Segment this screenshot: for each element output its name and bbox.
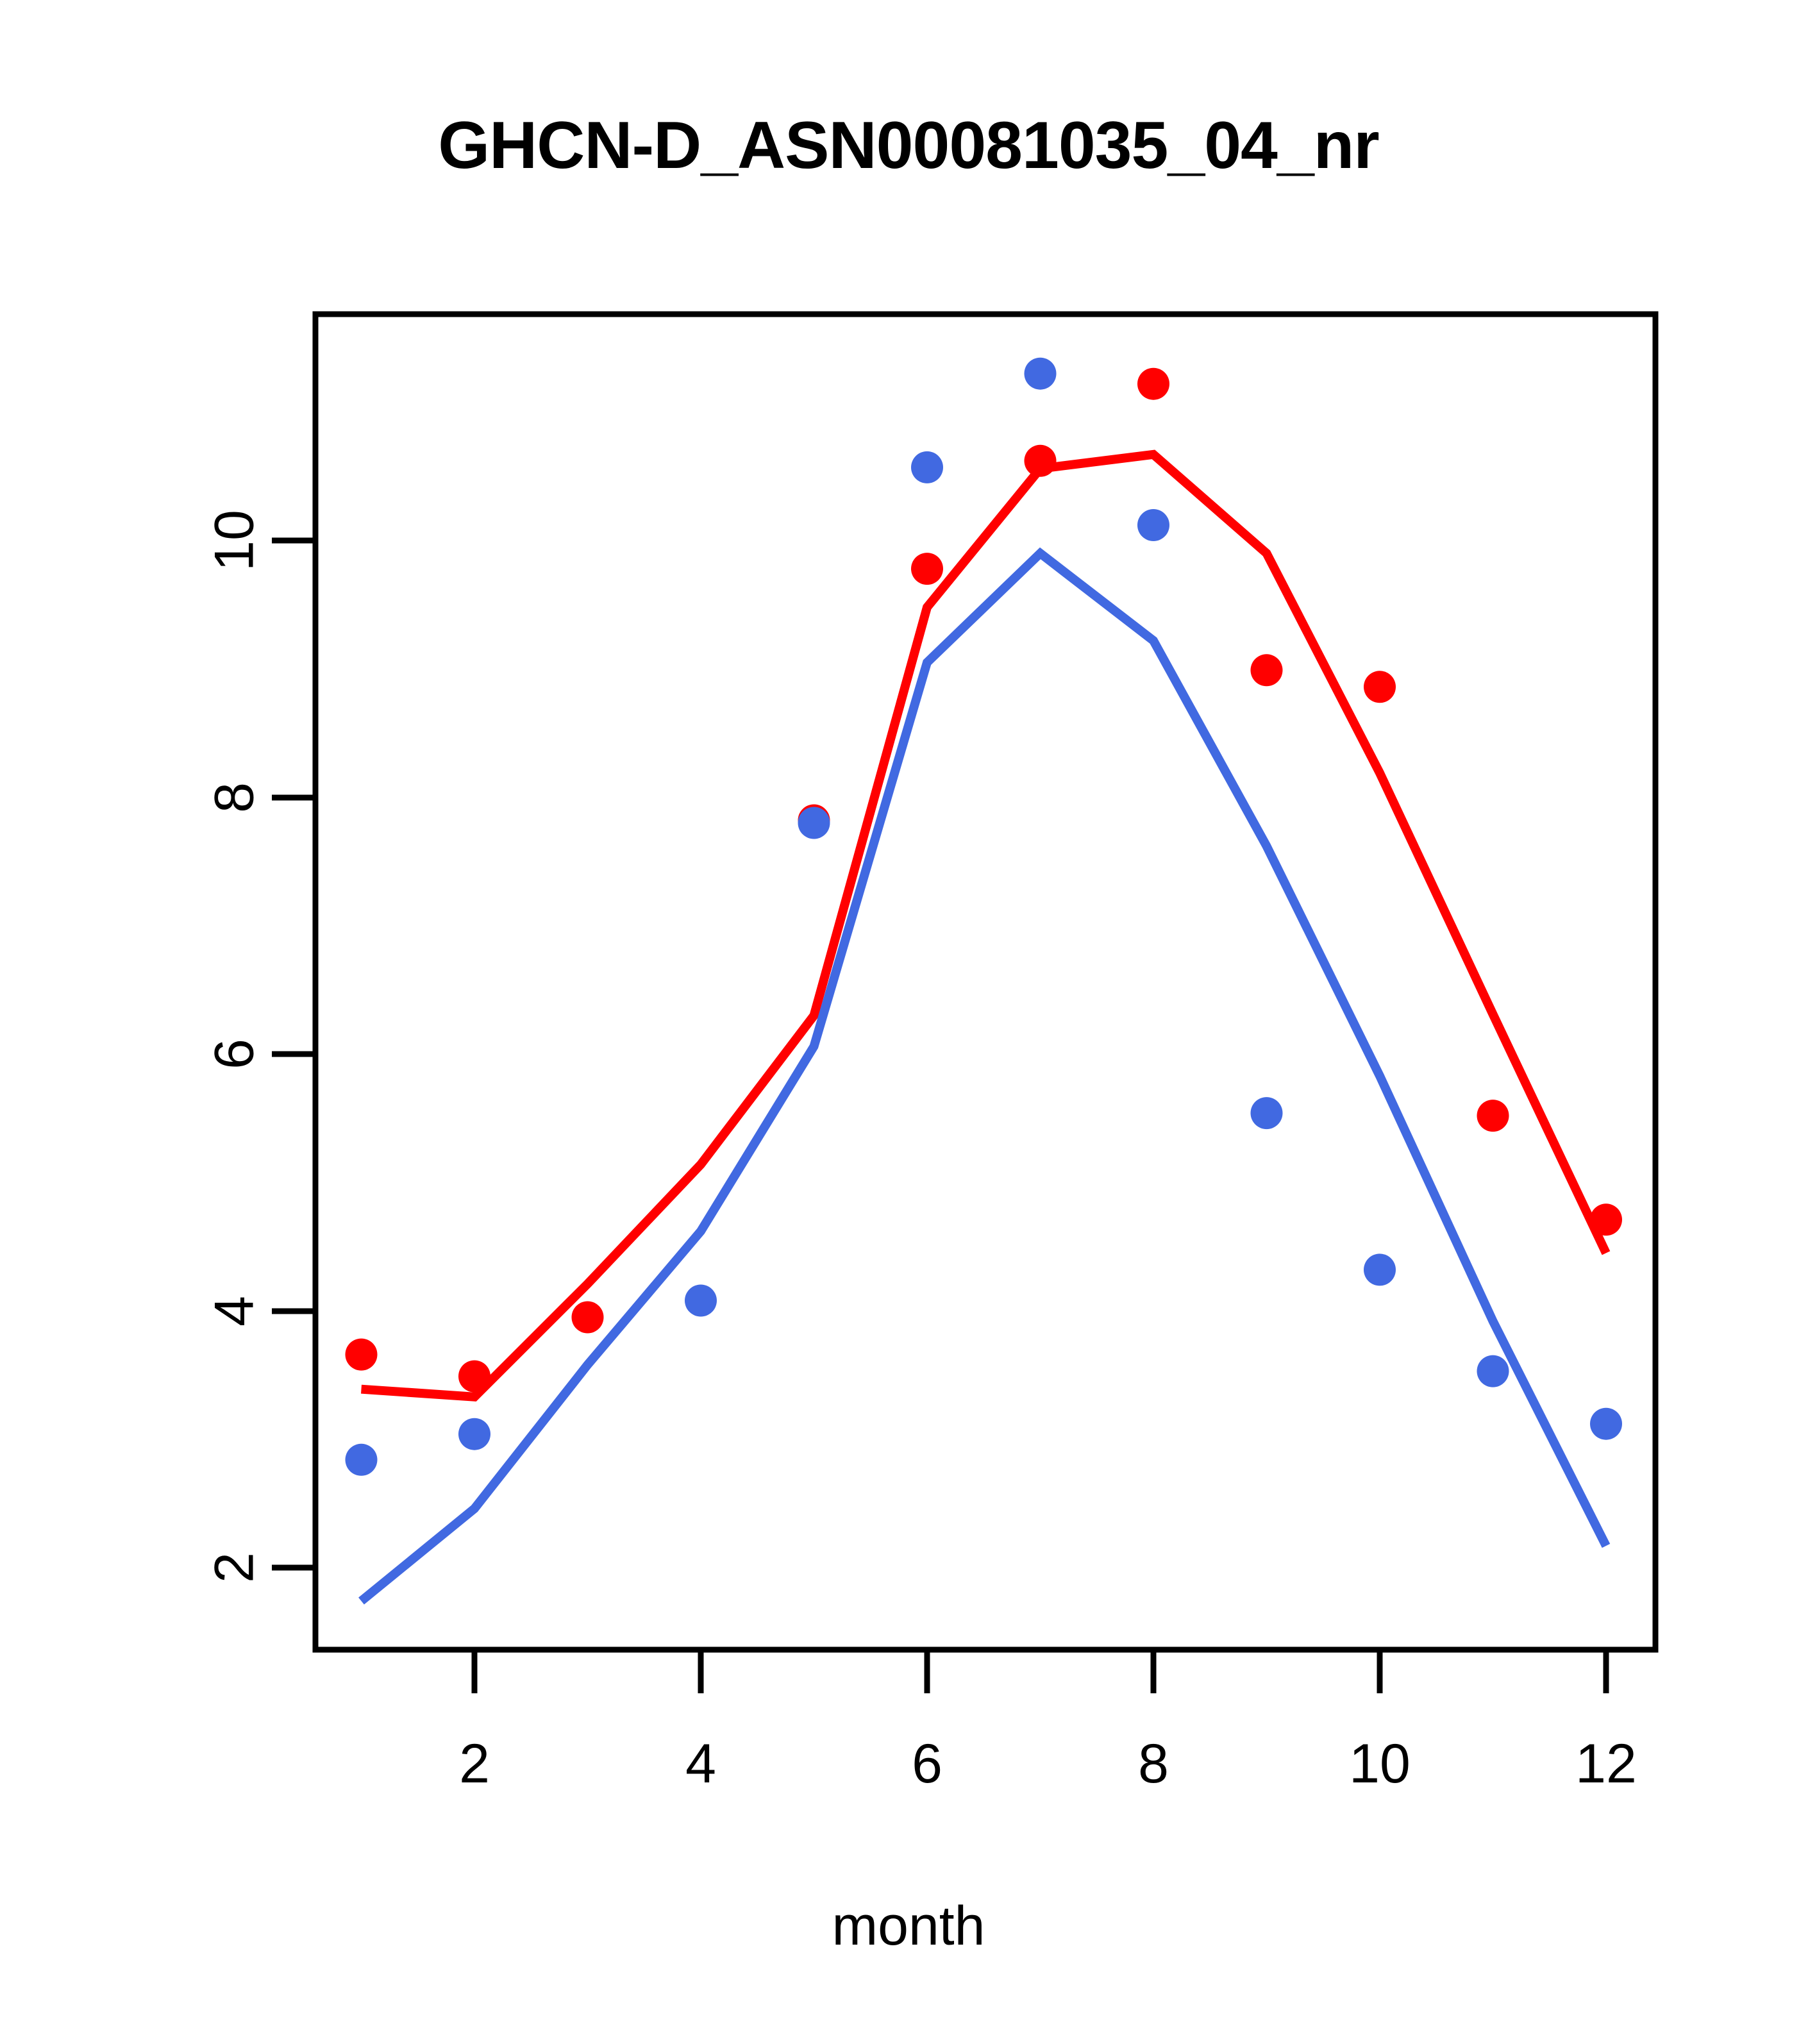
red-points-marker [1025,445,1057,477]
y-tick-label-2: 2 [204,1552,265,1583]
series-points-layer [346,358,1623,1476]
red-points-marker [911,553,943,585]
blue-points-marker [1364,1253,1396,1286]
x-tick-label-4: 4 [685,1733,716,1795]
blue-points-marker [798,807,830,839]
chart-canvas: 10 8 6 4 2 2 4 6 8 10 12 [0,0,1817,2044]
blue-points-marker [1137,509,1169,541]
blue-points-marker [1590,1408,1622,1440]
blue-points-marker [1025,358,1057,390]
red-points-marker [1364,671,1396,703]
y-tick-label-6: 6 [204,1039,265,1069]
red-points-marker [1137,368,1169,400]
y-tick-label-10: 10 [204,510,265,571]
blue-points-marker [346,1444,378,1476]
x-axis-title: month [0,1895,1817,1958]
red-points-marker [1251,654,1283,686]
red-points-marker [1477,1100,1509,1132]
x-tick-label-10: 10 [1349,1733,1411,1795]
blue-points-marker [911,451,943,483]
red-points-marker [458,1361,490,1393]
red-points-marker [1590,1203,1622,1236]
y-tick-label-4: 4 [204,1296,265,1327]
blue-points-marker [685,1285,717,1317]
x-tick-label-12: 12 [1575,1733,1637,1795]
y-axis: 10 8 6 4 2 [204,510,315,1583]
x-tick-label-6: 6 [912,1733,942,1795]
blue-points-marker [1477,1355,1509,1387]
x-tick-label-8: 8 [1138,1733,1169,1795]
blue-points-marker [1251,1097,1283,1129]
red-points-marker [346,1339,378,1371]
series-lines-layer [362,455,1607,1601]
y-tick-label-8: 8 [204,782,265,813]
red-line [362,455,1607,1397]
x-tick-label-2: 2 [459,1733,490,1795]
plot-root: GHCN-D_ASN00081035_04_nr 10 8 6 4 2 [0,0,1817,2044]
blue-line [362,553,1607,1601]
x-axis: 2 4 6 8 10 12 [459,1650,1637,1795]
blue-points-marker [458,1418,490,1450]
red-points-marker [572,1302,604,1334]
